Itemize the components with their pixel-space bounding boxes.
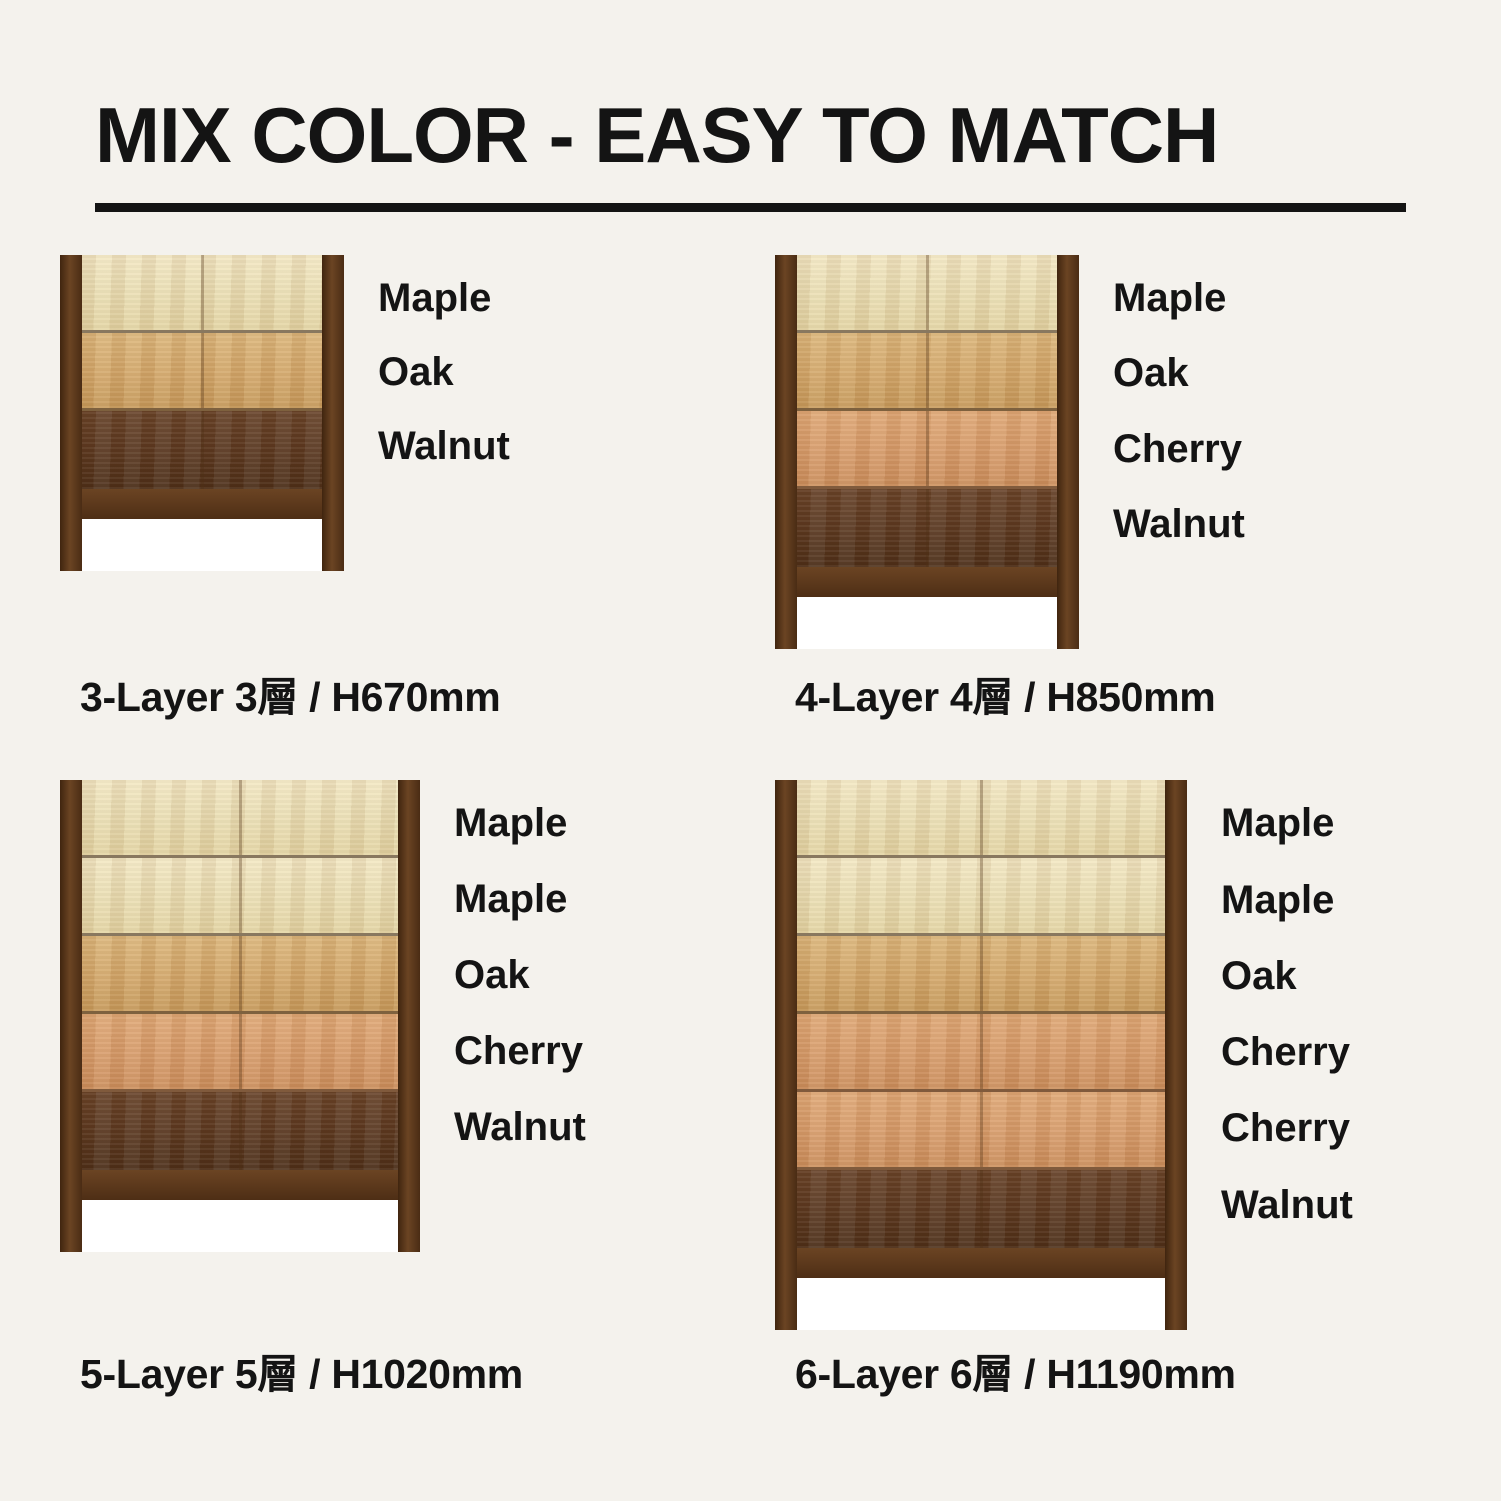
- legend-item-maple: Maple: [1221, 880, 1353, 920]
- cabinet-4-layer: [775, 255, 1079, 649]
- product-card-6-layer: MapleMapleOakCherryCherryWalnut6-Layer 6…: [775, 780, 1475, 1480]
- cabinet-5-layer: [60, 780, 420, 1252]
- product-grid: MapleOakWalnut3-Layer 3層 / H670mm MapleO…: [0, 255, 1501, 1501]
- drawer-cherry: [797, 1092, 1165, 1170]
- legend-item-oak: Oak: [454, 955, 586, 995]
- cabinet-left-post: [60, 255, 82, 571]
- cabinet-leg-gap: [797, 597, 1057, 649]
- legend-item-oak: Oak: [1221, 956, 1353, 996]
- legend-item-maple: Maple: [454, 879, 586, 919]
- cabinet-6-layer: [775, 780, 1187, 1330]
- infographic-page: MIX COLOR - EASY TO MATCH MapleOakWalnut…: [0, 0, 1501, 1501]
- drawer-oak: [797, 333, 1057, 411]
- product-caption-3-layer: 3-Layer 3層 / H670mm: [80, 663, 500, 723]
- drawer-oak: [797, 936, 1165, 1014]
- drawer-maple: [797, 780, 1165, 858]
- product-card-4-layer: MapleOakCherryWalnut4-Layer 4層 / H850mm: [775, 255, 1475, 775]
- legend-item-walnut: Walnut: [1113, 504, 1245, 544]
- drawer-cherry: [797, 1014, 1165, 1092]
- drawer-oak: [82, 333, 322, 411]
- cabinet-leg-gap: [82, 1200, 398, 1252]
- cabinet-drawer-stack: [82, 255, 322, 489]
- product-5-layer: MapleMapleOakCherryWalnut: [60, 780, 760, 1252]
- drawer-cherry: [797, 411, 1057, 489]
- drawer-walnut: [797, 1170, 1165, 1248]
- drawer-walnut: [797, 489, 1057, 567]
- wood-legend-3-layer: MapleOakWalnut: [378, 255, 510, 489]
- cabinet-illustration-3-layer: [60, 255, 344, 571]
- cabinet-left-post: [775, 255, 797, 649]
- legend-item-oak: Oak: [1113, 353, 1245, 393]
- legend-item-cherry: Cherry: [1221, 1108, 1353, 1148]
- drawer-maple: [82, 255, 322, 333]
- legend-item-maple: Maple: [454, 803, 586, 843]
- cabinet-leg-gap: [797, 1278, 1165, 1330]
- drawer-cherry: [82, 1014, 398, 1092]
- cabinet-base-rail: [797, 1248, 1165, 1278]
- cabinet-base-rail: [82, 1170, 398, 1200]
- legend-item-cherry: Cherry: [1221, 1032, 1353, 1072]
- wood-legend-5-layer: MapleMapleOakCherryWalnut: [454, 780, 586, 1170]
- cabinet-drawer-stack: [797, 255, 1057, 567]
- cabinet-right-post: [322, 255, 344, 571]
- legend-item-cherry: Cherry: [1113, 429, 1245, 469]
- title-block: MIX COLOR - EASY TO MATCH: [95, 95, 1406, 212]
- wood-legend-6-layer: MapleMapleOakCherryCherryWalnut: [1221, 780, 1353, 1248]
- legend-item-maple: Maple: [1113, 278, 1245, 318]
- cabinet-base-rail: [797, 567, 1057, 597]
- drawer-maple: [82, 780, 398, 858]
- page-title: MIX COLOR - EASY TO MATCH: [95, 95, 1406, 177]
- drawer-maple: [82, 858, 398, 936]
- legend-item-walnut: Walnut: [454, 1107, 586, 1147]
- cabinet-right-post: [1165, 780, 1187, 1330]
- cabinet-left-post: [775, 780, 797, 1330]
- cabinet-illustration-5-layer: [60, 780, 420, 1252]
- product-caption-6-layer: 6-Layer 6層 / H1190mm: [795, 1340, 1236, 1400]
- cabinet-illustration-4-layer: [775, 255, 1079, 649]
- product-3-layer: MapleOakWalnut: [60, 255, 760, 571]
- product-card-3-layer: MapleOakWalnut3-Layer 3層 / H670mm: [60, 255, 760, 775]
- drawer-walnut: [82, 411, 322, 489]
- legend-item-oak: Oak: [378, 352, 510, 392]
- product-card-5-layer: MapleMapleOakCherryWalnut5-Layer 5層 / H1…: [60, 780, 760, 1480]
- legend-item-maple: Maple: [1221, 803, 1353, 843]
- product-6-layer: MapleMapleOakCherryCherryWalnut: [775, 780, 1475, 1330]
- cabinet-left-post: [60, 780, 82, 1252]
- drawer-oak: [82, 936, 398, 1014]
- cabinet-drawer-stack: [797, 780, 1165, 1248]
- product-caption-4-layer: 4-Layer 4層 / H850mm: [795, 663, 1215, 723]
- legend-item-walnut: Walnut: [378, 426, 510, 466]
- legend-item-maple: Maple: [378, 278, 510, 318]
- cabinet-3-layer: [60, 255, 344, 571]
- wood-legend-4-layer: MapleOakCherryWalnut: [1113, 255, 1245, 567]
- product-caption-5-layer: 5-Layer 5層 / H1020mm: [80, 1340, 523, 1400]
- drawer-walnut: [82, 1092, 398, 1170]
- product-4-layer: MapleOakCherryWalnut: [775, 255, 1475, 649]
- title-underline-divider: [95, 203, 1406, 212]
- cabinet-base-rail: [82, 489, 322, 519]
- cabinet-right-post: [1057, 255, 1079, 649]
- cabinet-right-post: [398, 780, 420, 1252]
- legend-item-walnut: Walnut: [1221, 1185, 1353, 1225]
- cabinet-drawer-stack: [82, 780, 398, 1170]
- legend-item-cherry: Cherry: [454, 1031, 586, 1071]
- cabinet-leg-gap: [82, 519, 322, 571]
- cabinet-illustration-6-layer: [775, 780, 1187, 1330]
- drawer-maple: [797, 858, 1165, 936]
- drawer-maple: [797, 255, 1057, 333]
